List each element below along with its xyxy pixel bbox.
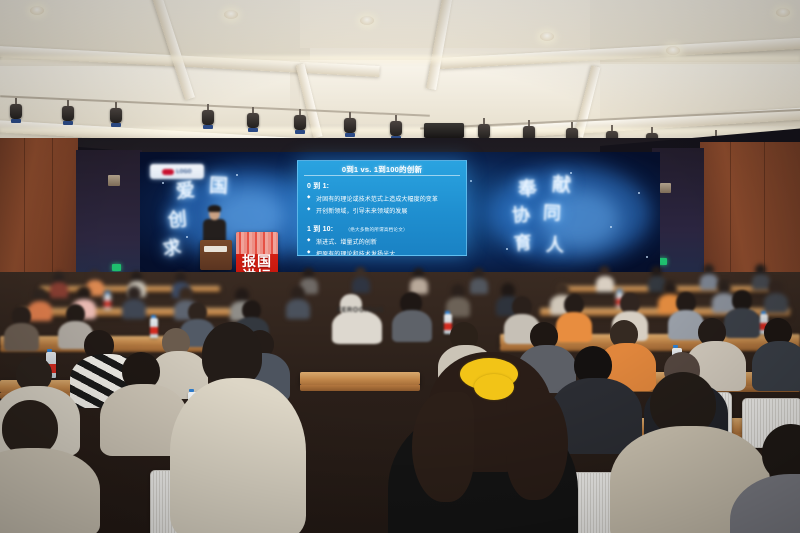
water-bottle bbox=[150, 318, 158, 338]
podium bbox=[200, 240, 232, 270]
calligraphy-char: 协 bbox=[511, 205, 530, 224]
jacket-graphic-text: FEROCIOUS bbox=[337, 307, 384, 314]
downlight bbox=[360, 16, 374, 25]
calligraphy-char: 爱 bbox=[175, 181, 196, 202]
calligraphy-char: 人 bbox=[546, 236, 565, 255]
slide-section-heading: 1 到 10: （绝大多数的所谓高档论文） bbox=[307, 224, 459, 234]
slide-section-heading: 0 到 1: bbox=[307, 181, 459, 191]
podium-name-plate bbox=[204, 246, 227, 252]
downlight bbox=[224, 10, 238, 19]
slide-title: 0到1 vs. 1到100的创新 bbox=[298, 164, 466, 175]
calligraphy-char: 国 bbox=[209, 177, 229, 197]
slide-divider bbox=[304, 175, 460, 176]
calligraphy-char: 求 bbox=[162, 238, 183, 259]
slide-bullet: 开创新领域，引导未来领域的发展 bbox=[307, 206, 459, 215]
slide-bullet: 渐进式、增量式的创新 bbox=[307, 237, 459, 246]
slide-heading-note: （绝大多数的所谓高档论文） bbox=[345, 227, 407, 232]
downlight bbox=[540, 32, 554, 41]
speaker-hair bbox=[208, 205, 221, 212]
calligraphy-char: 创 bbox=[167, 210, 188, 231]
logo-mark bbox=[162, 169, 174, 175]
conference-photo-scene: 爱 国 创 求 LOGO 奉 献 协 同 育 人 0到1 vs. 1到100的创… bbox=[0, 0, 800, 533]
event-logo-badge: LOGO bbox=[150, 164, 204, 179]
wall-plaque bbox=[108, 175, 120, 186]
calligraphy-char: 育 bbox=[513, 233, 533, 253]
hair-scrunchie bbox=[474, 374, 514, 400]
downlight bbox=[666, 46, 680, 55]
ceiling-projector bbox=[424, 123, 464, 138]
logo-text: LOGO bbox=[176, 169, 192, 175]
exit-indicator-left bbox=[112, 264, 121, 271]
calligraphy-char: 献 bbox=[551, 175, 571, 195]
water-bottle bbox=[104, 294, 111, 310]
downlight bbox=[776, 8, 790, 17]
slide-heading-text: 0 到 1: bbox=[307, 183, 329, 190]
presentation-slide: 0到1 vs. 1到100的创新 0 到 1: 对固有的理论或技术范式上造成大幅… bbox=[297, 160, 467, 256]
downlight bbox=[30, 6, 44, 15]
slide-heading-text: 1 到 10: bbox=[307, 226, 333, 233]
calligraphy-char: 奉 bbox=[517, 179, 538, 200]
conference-table bbox=[300, 372, 420, 385]
slide-bullet: 对固有的理论或技术范式上造成大幅度的变革 bbox=[307, 194, 459, 203]
wall-plaque bbox=[660, 183, 671, 193]
slide-bullet: 把原有的理论和技术发扬光大 bbox=[307, 249, 459, 256]
calligraphy-char: 同 bbox=[543, 204, 562, 223]
